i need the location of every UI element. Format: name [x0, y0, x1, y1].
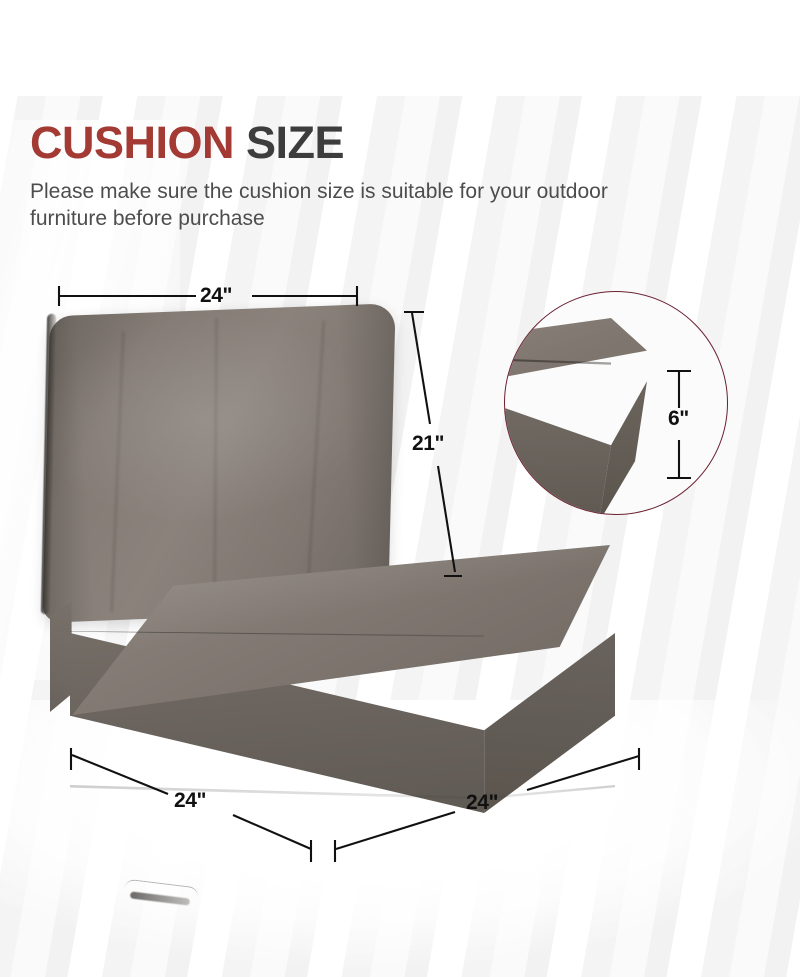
page-subtitle: Please make sure the cushion size is sui… [30, 178, 620, 232]
infographic-canvas: CUSHION SIZE Please make sure the cushio… [0, 0, 800, 977]
page-title-primary: CUSHION [30, 117, 234, 168]
seat-cushion-base-shade [70, 785, 615, 807]
inset-top-face [504, 318, 719, 414]
page-title-secondary: SIZE [246, 117, 344, 168]
detail-inset-image [504, 318, 728, 508]
dimension-label-seat-thickness: 6" [668, 407, 689, 431]
seat-cushion [50, 545, 660, 835]
page-title: CUSHION SIZE [30, 118, 650, 168]
detail-inset-circle [504, 291, 728, 515]
dimension-label-back-height: 21" [412, 432, 444, 456]
dimension-label-seat-width: 24" [466, 791, 498, 815]
background-top-fade [0, 0, 800, 96]
dimension-label-seat-depth: 24" [174, 789, 206, 813]
header-block: CUSHION SIZE Please make sure the cushio… [30, 118, 650, 232]
dimension-label-back-width: 24" [200, 284, 232, 308]
seat-cushion-top-sheen [50, 545, 610, 715]
